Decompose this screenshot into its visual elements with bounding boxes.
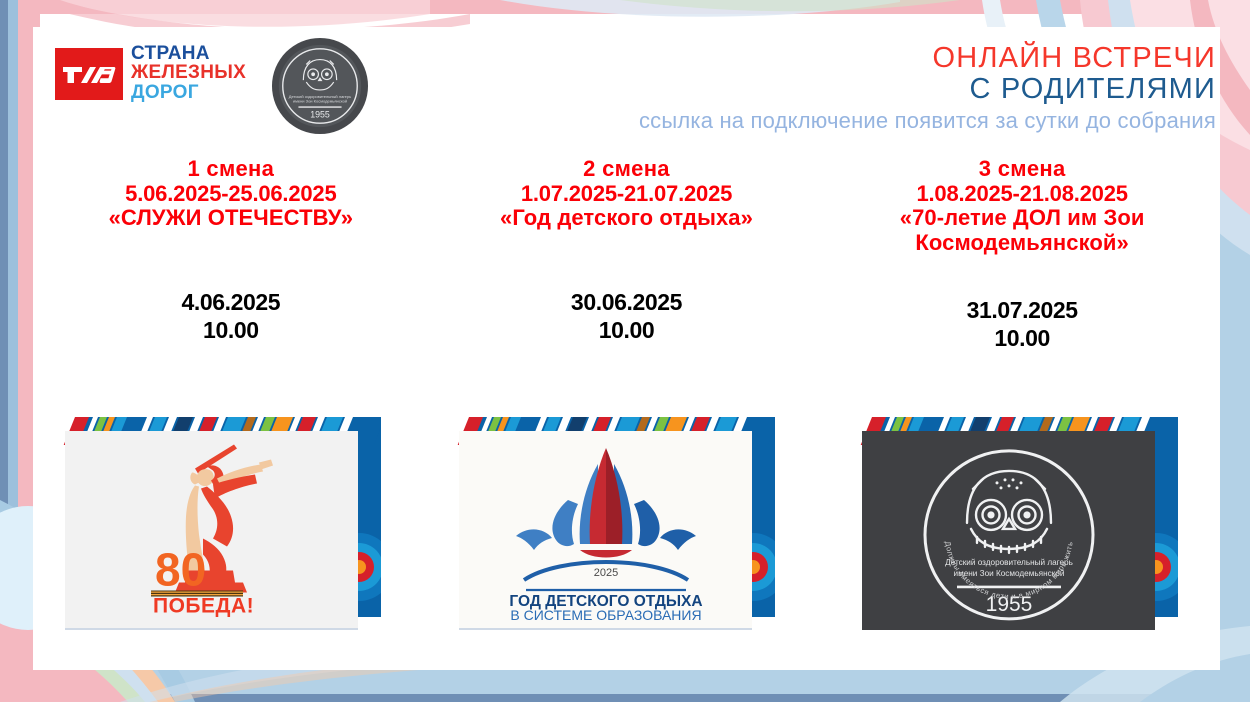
shift-heading: 1 смена 5.06.2025-25.06.2025 «СЛУЖИ ОТЕЧ… — [33, 157, 429, 231]
shift-column-2: 2 смена 1.07.2025-21.07.2025 «Год детско… — [429, 157, 825, 352]
railway-country-brand: СТРАНА ЖЕЛЕЗНЫХ ДОРОГ — [131, 44, 246, 102]
owl-year: 1955 — [862, 431, 863, 432]
title-subtitle: ссылка на подключение появится за сутки … — [639, 107, 1216, 136]
shift-heading: 2 смена 1.07.2025-21.07.2025 «Год детско… — [429, 157, 825, 231]
victory-80-icon: 80 ПОБЕДА! — [137, 442, 287, 617]
meeting-time: 10.00 — [824, 324, 1220, 352]
content-panel: СТРАНА ЖЕЛЕЗНЫХ ДОРОГ Детский оздоровите… — [33, 27, 1220, 670]
shift-card-1: 80 ПОБЕДА! 80 ПОБЕДА! — [59, 417, 381, 642]
victory-number-text: 80 — [155, 543, 206, 595]
shift-name: 2 смена — [429, 157, 825, 182]
shift-column-3: 3 смена 1.08.2025-21.08.2025 «70-летие Д… — [824, 157, 1220, 352]
sailboat-logo-icon: 2025 ГОД ДЕТСКОГО ОТДЫХА В СИСТЕМЕ ОБРАЗ… — [480, 440, 732, 620]
shift-name: 3 смена — [824, 157, 1220, 182]
meeting-info: 31.07.2025 10.00 — [824, 296, 1220, 352]
owl-caption-line2-text: имени Зои Космодемьянской — [953, 568, 1064, 577]
owl-caption-line1-text: Детский оздоровительный лагерь — [945, 557, 1073, 566]
owl-caption-line2: имени Зои Космодемьянской — [862, 431, 863, 432]
owl-emblem-icon: Детский оздоровительный лагерь имени Зои… — [271, 37, 369, 135]
victory-word: ПОБЕДА! — [65, 431, 66, 432]
svg-text:1955: 1955 — [310, 109, 330, 119]
shift-dates: 1.07.2025-21.07.2025 — [429, 182, 825, 207]
card-front-victory: 80 ПОБЕДА! 80 ПОБЕДА! — [65, 431, 358, 630]
brand-line-1: СТРАНА — [131, 44, 246, 63]
shift-slogan-line-1: «70-летие ДОЛ им Зои — [824, 206, 1220, 231]
shift-column-1: 1 смена 5.06.2025-25.06.2025 «СЛУЖИ ОТЕЧ… — [33, 157, 429, 352]
shift-name: 1 смена — [33, 157, 429, 182]
shift-card-3: Детский оздоровительный лагерь имени Зои… — [856, 417, 1178, 642]
shifts-columns: 1 смена 5.06.2025-25.06.2025 «СЛУЖИ ОТЕЧ… — [33, 157, 1220, 352]
title-line-2: С РОДИТЕЛЯМИ — [639, 74, 1216, 105]
meeting-date: 31.07.2025 — [824, 296, 1220, 324]
meeting-time: 10.00 — [33, 316, 429, 344]
card-front-sail: 2025 ГОД ДЕТСКОГО ОТДЫХА В СИСТЕМЕ ОБРАЗ… — [459, 431, 752, 630]
meeting-info: 30.06.2025 10.00 — [429, 288, 825, 344]
meeting-info: 4.06.2025 10.00 — [33, 288, 429, 344]
meeting-date: 30.06.2025 — [429, 288, 825, 316]
shift-image-cards: 80 ПОБЕДА! 80 ПОБЕДА! — [33, 417, 1220, 667]
shift-slogan-line-2: Космодемьянской» — [824, 231, 1220, 256]
shift-dates: 5.06.2025-25.06.2025 — [33, 182, 429, 207]
title-line-1: ОНЛАЙН ВСТРЕЧИ — [639, 43, 1216, 74]
shift-slogan: «СЛУЖИ ОТЕЧЕСТВУ» — [33, 206, 429, 231]
shift-slogan: «Год детского отдыха» — [429, 206, 825, 231]
owl-caption-line1: Детский оздоровительный лагерь — [862, 431, 863, 432]
shift-dates: 1.08.2025-21.08.2025 — [824, 182, 1220, 207]
sail-line1: ГОД ДЕТСКОГО ОТДЫХА — [459, 431, 460, 432]
owl-motto: Должны смеяться дети и в мирном мире жит… — [862, 431, 863, 432]
brand-line-3: ДОРОГ — [131, 83, 246, 102]
meeting-date: 4.06.2025 — [33, 288, 429, 316]
meeting-time: 10.00 — [429, 316, 825, 344]
page-title: ОНЛАЙН ВСТРЕЧИ С РОДИТЕЛЯМИ ссылка на по… — [639, 43, 1216, 136]
sail-year-text: 2025 — [593, 567, 617, 579]
camp-owl-emblem-icon: Детский оздоровительный лагерь имени Зои… — [911, 436, 1107, 630]
header: СТРАНА ЖЕЛЕЗНЫХ ДОРОГ Детский оздоровите… — [33, 27, 1220, 142]
shift-heading: 3 смена 1.08.2025-21.08.2025 «70-летие Д… — [824, 157, 1220, 256]
victory-number: 80 — [65, 431, 66, 432]
brand-line-2: ЖЕЛЕЗНЫХ — [131, 63, 246, 82]
sail-line2-text: В СИСТЕМЕ ОБРАЗОВАНИЯ — [510, 607, 701, 620]
rzd-logo-icon — [55, 48, 123, 100]
victory-word-text: ПОБЕДА! — [153, 594, 254, 617]
svg-text:имени Зои Космодемьянской: имени Зои Космодемьянской — [293, 99, 347, 104]
shift-card-2: 2025 ГОД ДЕТСКОГО ОТДЫХА В СИСТЕМЕ ОБРАЗ… — [453, 417, 775, 642]
card-front-owl: Детский оздоровительный лагерь имени Зои… — [862, 431, 1155, 630]
sail-year: 2025 — [459, 431, 460, 432]
sail-line2: В СИСТЕМЕ ОБРАЗОВАНИЯ — [459, 431, 460, 432]
